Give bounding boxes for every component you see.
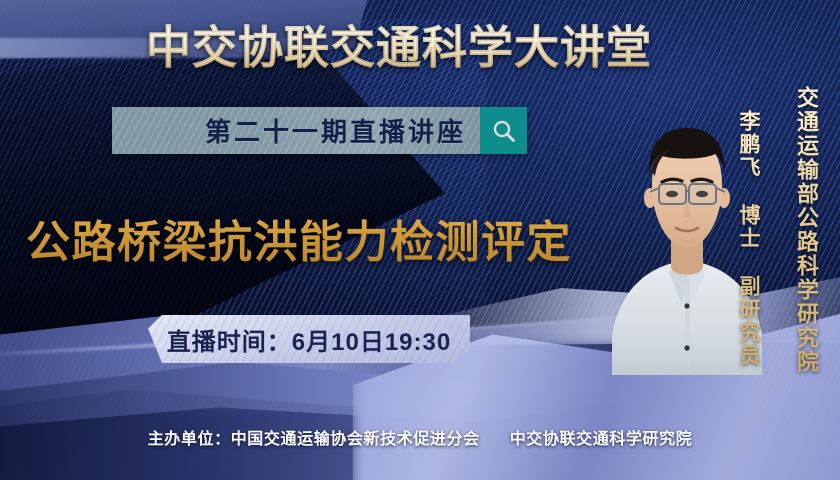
speaker-name-title: 李鹏飞 博士 副研究员 [733, 110, 763, 367]
footer-bar: 主办单位：中国交通运输协会新技术促进分会 中交协联交通科学研究院 [0, 420, 840, 454]
broadcast-time-plate: 直播时间：6月10日19:30 [148, 315, 470, 363]
page-title: 中交协联交通科学大讲堂 [146, 21, 652, 74]
footer-organizer: 主办单位：中国交通运输协会新技术促进分会 [148, 425, 480, 449]
search-icon-box[interactable] [480, 107, 527, 154]
footer-institute: 中交协联交通科学研究院 [510, 425, 693, 449]
broadcast-time-label: 直播时间：6月10日19:30 [167, 322, 451, 357]
subtitle-banner: 第二十一期直播讲座 [112, 107, 527, 154]
speaker-organization: 交通运输部公路科学研究院 [790, 86, 822, 374]
subtitle-label: 第二十一期直播讲座 [205, 112, 466, 149]
lecture-poster: 中交协联交通科学大讲堂 第二十一期直播讲座 公路桥梁抗洪能力检测评定 直播时间：… [0, 0, 840, 480]
lecture-headline: 公路桥梁抗洪能力检测评定 [26, 206, 572, 270]
subtitle-banner-body: 第二十一期直播讲座 [112, 107, 480, 154]
search-icon [491, 118, 517, 144]
